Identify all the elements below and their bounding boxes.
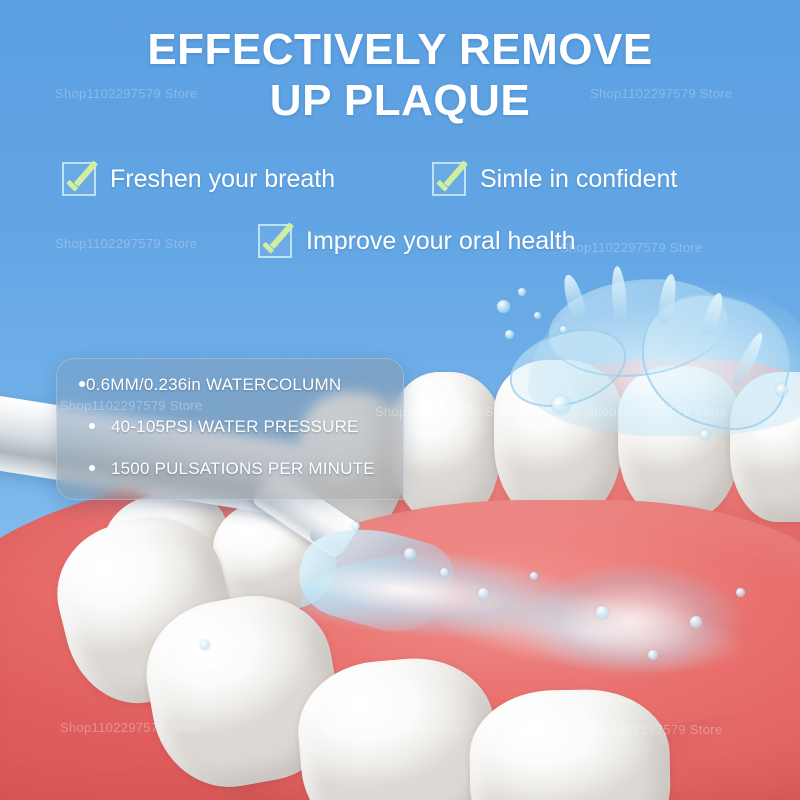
benefit-label: Improve your oral health (306, 227, 576, 256)
bullet-icon (89, 465, 95, 471)
benefit-label: Freshen your breath (110, 165, 335, 194)
benefit-item-2: Improve your oral health (258, 224, 576, 258)
spec-item-0: 0.6MM/0.236in WATERCOLUMN (79, 375, 391, 395)
bullet-icon (79, 381, 85, 387)
bullet-icon (89, 423, 95, 429)
spec-item-1: 40-105PSI WATER PRESSURE (89, 417, 391, 437)
water-droplet (518, 288, 526, 296)
checkmark-icon (258, 224, 292, 258)
water-spray-tail (520, 560, 800, 710)
water-droplet (596, 606, 609, 619)
water-droplet (700, 430, 710, 440)
water-droplet (690, 616, 702, 628)
checkmark-icon (432, 162, 466, 196)
water-droplet (497, 300, 510, 313)
spec-text: 40-105PSI WATER PRESSURE (111, 417, 359, 437)
water-droplet (776, 384, 788, 396)
page-title: EFFECTIVELY REMOVE UP PLAQUE (0, 24, 800, 126)
product-banner: EFFECTIVELY REMOVE UP PLAQUE Freshen you… (0, 0, 800, 800)
benefit-item-1: Simle in confident (432, 162, 677, 196)
water-droplet (478, 588, 489, 599)
water-droplet (505, 330, 514, 339)
tooth-upper-1 (392, 372, 500, 522)
water-droplet (404, 548, 416, 560)
spec-text: 1500 PULSATIONS PER MINUTE (111, 459, 375, 479)
spec-text: 0.6MM/0.236in WATERCOLUMN (86, 375, 341, 395)
benefit-item-0: Freshen your breath (62, 162, 335, 196)
spec-item-2: 1500 PULSATIONS PER MINUTE (89, 459, 391, 479)
specification-list: 0.6MM/0.236in WATERCOLUMN 40-105PSI WATE… (57, 359, 403, 479)
water-droplet (200, 640, 210, 650)
water-droplet (552, 396, 570, 414)
water-droplet (736, 588, 745, 597)
water-droplet (534, 312, 541, 319)
checkmark-icon (62, 162, 96, 196)
headline-line-1: EFFECTIVELY REMOVE (147, 25, 652, 74)
specification-panel: 0.6MM/0.236in WATERCOLUMN 40-105PSI WATE… (56, 358, 404, 500)
headline-line-2: UP PLAQUE (0, 75, 800, 126)
water-droplet (440, 568, 449, 577)
water-droplet (648, 650, 658, 660)
water-droplet (352, 522, 360, 530)
water-droplet (530, 572, 538, 580)
benefit-label: Simle in confident (480, 165, 677, 194)
water-droplet (560, 326, 567, 333)
